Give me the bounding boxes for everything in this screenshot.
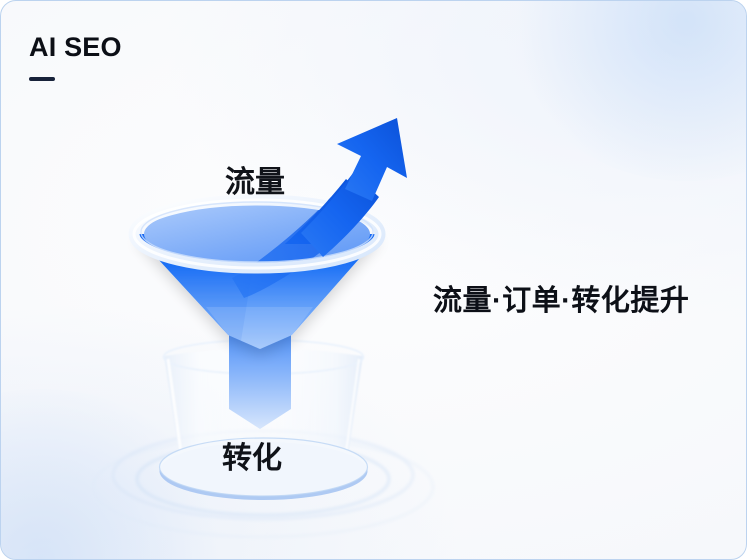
funnel-bowl-interior xyxy=(144,204,370,264)
arrow-head-icon xyxy=(337,118,407,201)
funnel-label-traffic: 流量 xyxy=(225,157,285,201)
page-title: AI SEO xyxy=(29,34,122,61)
funnel-cone xyxy=(135,234,381,349)
background-glow-bottom-left xyxy=(0,389,231,560)
funnel-stem xyxy=(229,331,291,429)
illustration-card: AI SEO 流量·订单·转化提升 xyxy=(0,0,747,560)
headline-text: 流量·订单·转化提升 xyxy=(433,277,689,319)
growth-arrow-upper-shaft xyxy=(301,173,379,257)
funnel-rim xyxy=(134,200,380,268)
funnel-label-conversion: 转化 xyxy=(222,433,282,477)
background-glow-top-right xyxy=(506,0,747,181)
title-underline-rule xyxy=(29,77,55,81)
growth-arrow-lower xyxy=(232,197,357,298)
header: AI SEO xyxy=(29,34,122,81)
